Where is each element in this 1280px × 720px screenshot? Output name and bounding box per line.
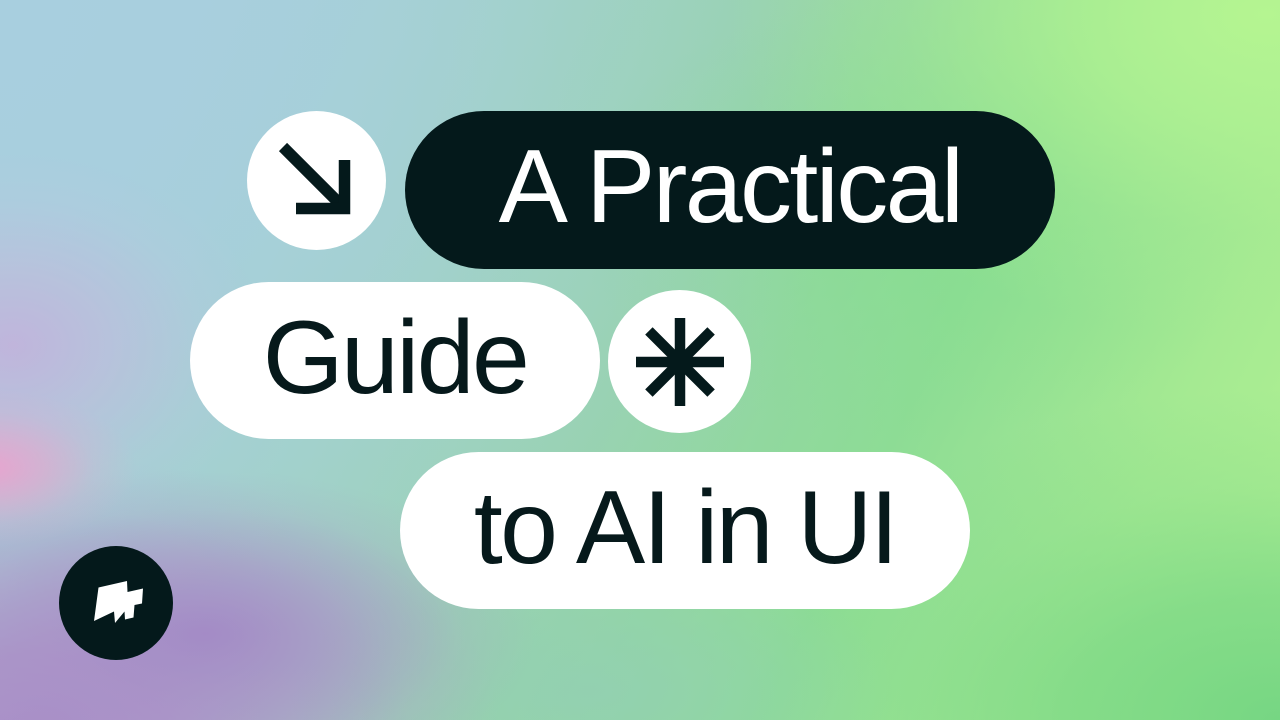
headline-pill-row-2: Guide: [190, 282, 600, 439]
headline-pill-row-1: A Practical: [405, 111, 1055, 269]
headline-row-3-label: to AI in UI: [474, 476, 896, 580]
asterisk-icon: [632, 314, 728, 410]
brand-logo-badge[interactable]: [59, 546, 173, 660]
arrow-down-right-chip: [247, 111, 386, 250]
headline-pill-row-3: to AI in UI: [400, 452, 970, 609]
headline-row-2-label: Guide: [263, 306, 528, 410]
title-card-content: A Practical Guide to AI in UI: [0, 0, 1280, 720]
asterisk-chip: [608, 290, 751, 433]
arrow-down-right-icon: [272, 136, 362, 226]
brand-logo-mark-icon: [81, 568, 151, 638]
headline-row-1-label: A Practical: [499, 135, 962, 239]
